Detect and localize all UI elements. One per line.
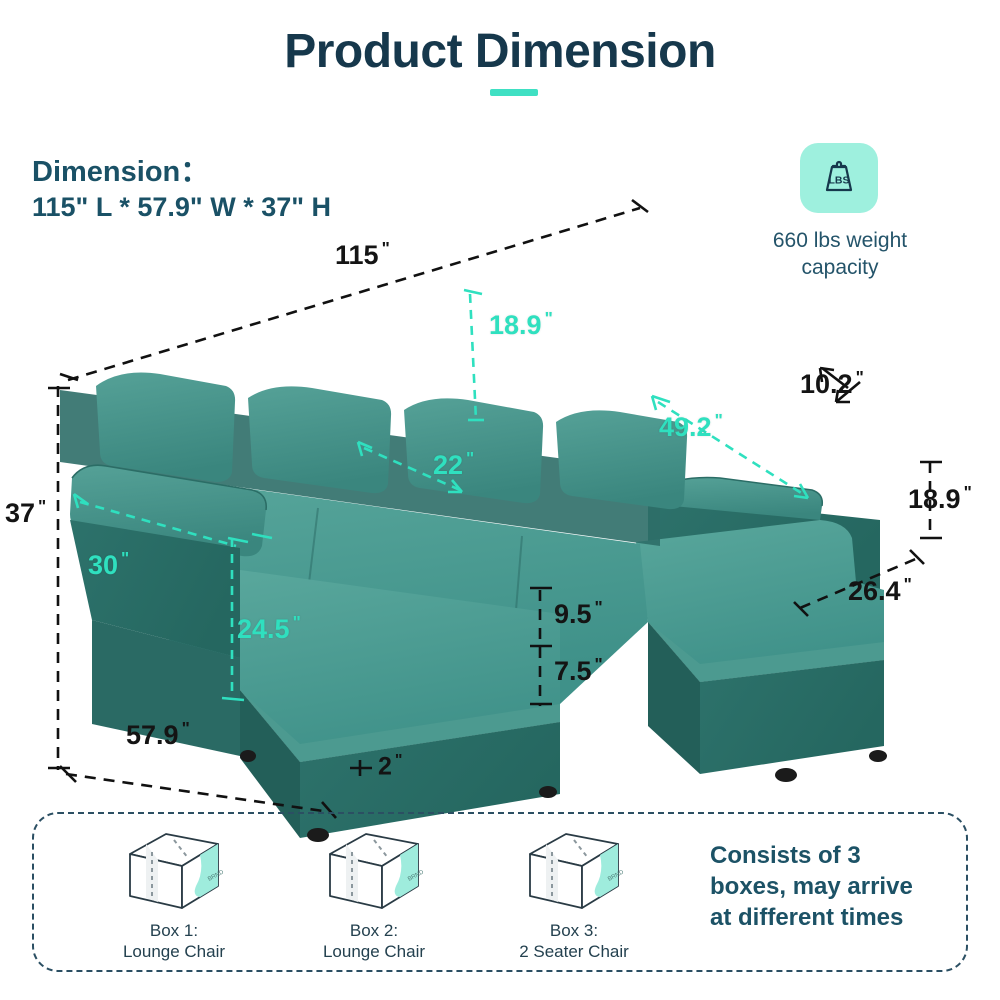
packaging-note-line2: boxes, may arrive	[710, 873, 913, 900]
sofa-diagram-svg	[0, 190, 1000, 810]
box-caption-1: Box 1: Lounge Chair	[74, 920, 274, 963]
annotation-seat-height-right: 18.9"	[908, 484, 972, 513]
packaging-note: Consists of 3 boxes, may arrive at diffe…	[710, 840, 970, 934]
annotation-chaise-seat-depth: 49.2"	[659, 412, 723, 441]
back-cushion-1	[96, 373, 235, 483]
annotation-backrest-height: 18.9"	[489, 310, 553, 339]
box-list: BRND Box 1: Lounge Chair BRND	[74, 828, 674, 968]
annotation-armrest-width-right: 10.2"	[800, 369, 864, 398]
box-caption-2: Box 2: Lounge Chair	[274, 920, 474, 963]
annotation-armrest-length-left: 30"	[88, 550, 129, 579]
box-item-1: BRND Box 1: Lounge Chair	[74, 828, 274, 968]
annotation-base-height: 7.5"	[554, 656, 603, 685]
right-chaise-leg-back	[869, 750, 887, 762]
page-title: Product Dimension	[0, 24, 1000, 79]
dimension-label: Dimension：	[32, 148, 209, 190]
left-arm-leg	[240, 750, 256, 762]
shipping-box-icon: BRND	[122, 828, 226, 916]
box-item-2: BRND Box 2: Lounge Chair	[274, 828, 474, 968]
annotation-leg-height: 2"	[378, 753, 403, 779]
box-caption-3: Box 3: 2 Seater Chair	[474, 920, 674, 963]
product-dimension-infographic: Product Dimension Dimension： 115" L * 57…	[0, 0, 1000, 1000]
shipping-box-icon: BRND	[322, 828, 426, 916]
annotation-overall-height: 37"	[5, 498, 46, 527]
right-chaise-leg-front	[775, 768, 797, 782]
lbs-icon-text: LBS	[829, 175, 850, 187]
title-accent-underline	[490, 89, 538, 96]
annotation-chaise-width-right: 26.4"	[848, 576, 912, 605]
box-title-3: Box 3:	[550, 921, 598, 940]
annotation-seat-cushion-depth: 22"	[433, 450, 474, 479]
annotation-seat-height: 9.5"	[554, 599, 603, 628]
box-title-2: Box 2:	[350, 921, 398, 940]
back-cushion-2	[248, 386, 391, 493]
box-contents-3: 2 Seater Chair	[519, 942, 629, 961]
box-title-1: Box 1:	[150, 921, 198, 940]
annotation-overall-width: 57.9"	[126, 720, 190, 749]
packaging-note-line3: at different times	[710, 904, 903, 931]
shipping-box-icon: BRND	[522, 828, 626, 916]
packaging-note-line1: Consists of 3	[710, 842, 861, 869]
left-chaise-leg-back	[539, 786, 557, 798]
box-item-3: BRND Box 3: 2 Seater Chair	[474, 828, 674, 968]
sofa-illustration: 115" 18.9" 10.2" 49.2" 22" 37" 30" 24.5"…	[0, 190, 1000, 810]
annotation-chaise-height-left: 24.5"	[237, 614, 301, 643]
box-contents-1: Lounge Chair	[123, 942, 225, 961]
box-contents-2: Lounge Chair	[323, 942, 425, 961]
annotation-overall-length: 115"	[335, 240, 390, 269]
packaging-panel: BRND Box 1: Lounge Chair BRND	[32, 812, 968, 972]
